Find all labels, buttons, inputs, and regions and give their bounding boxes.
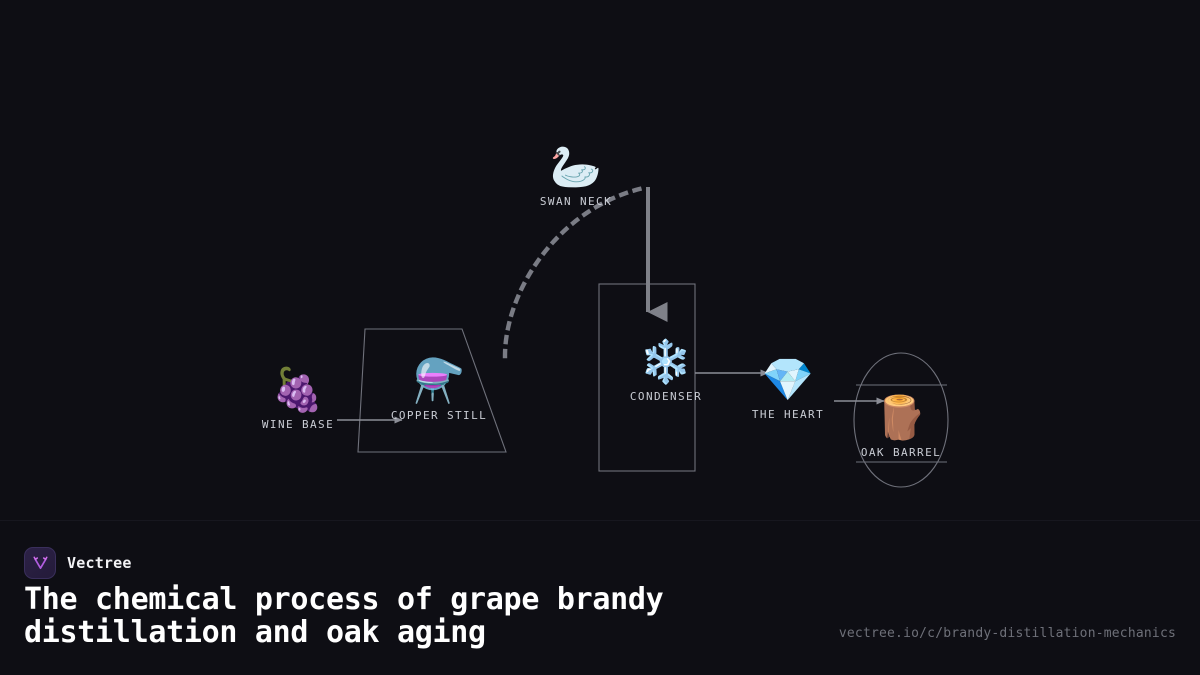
diagram-stage: 🍇 WINE BASE ⚗️ COPPER STILL 🦢 SWAN NECK … — [0, 0, 1200, 520]
node-copper-still[interactable]: ⚗️ COPPER STILL — [391, 360, 487, 422]
node-the-heart-label: THE HEART — [752, 408, 824, 421]
footer: Vectree The chemical process of grape br… — [0, 520, 1200, 675]
node-swan-neck[interactable]: 🦢 SWAN NECK — [540, 146, 612, 208]
diamond-icon: 💎 — [762, 359, 814, 401]
node-swan-neck-label: SWAN NECK — [540, 195, 612, 208]
grapes-icon: 🍇 — [272, 369, 324, 411]
page-title: The chemical process of grape brandy dis… — [24, 583, 824, 649]
node-wine-base-label: WINE BASE — [262, 418, 334, 431]
vectree-logo-icon — [24, 547, 56, 579]
brand-name: Vectree — [67, 554, 132, 572]
edge-copper-still-to-swan-neck — [505, 187, 648, 356]
node-wine-base[interactable]: 🍇 WINE BASE — [262, 369, 334, 431]
node-copper-still-label: COPPER STILL — [391, 409, 487, 422]
brand-row: Vectree — [24, 547, 132, 579]
node-oak-barrel-label: OAK BARREL — [861, 446, 941, 459]
diagram-connectors — [0, 0, 1200, 520]
swan-icon: 🦢 — [550, 146, 602, 188]
source-url: vectree.io/c/brandy-distillation-mechani… — [839, 626, 1176, 641]
node-oak-barrel[interactable]: 🪵 OAK BARREL — [861, 397, 941, 459]
alembic-icon: ⚗️ — [413, 360, 465, 402]
screenshot-canvas: 🍇 WINE BASE ⚗️ COPPER STILL 🦢 SWAN NECK … — [0, 0, 1200, 675]
node-condenser-label: CONDENSER — [630, 390, 702, 403]
snowflake-icon: ❄️ — [640, 341, 692, 383]
node-the-heart[interactable]: 💎 THE HEART — [752, 359, 824, 421]
node-condenser[interactable]: ❄️ CONDENSER — [630, 341, 702, 403]
wood-log-icon: 🪵 — [875, 397, 927, 439]
